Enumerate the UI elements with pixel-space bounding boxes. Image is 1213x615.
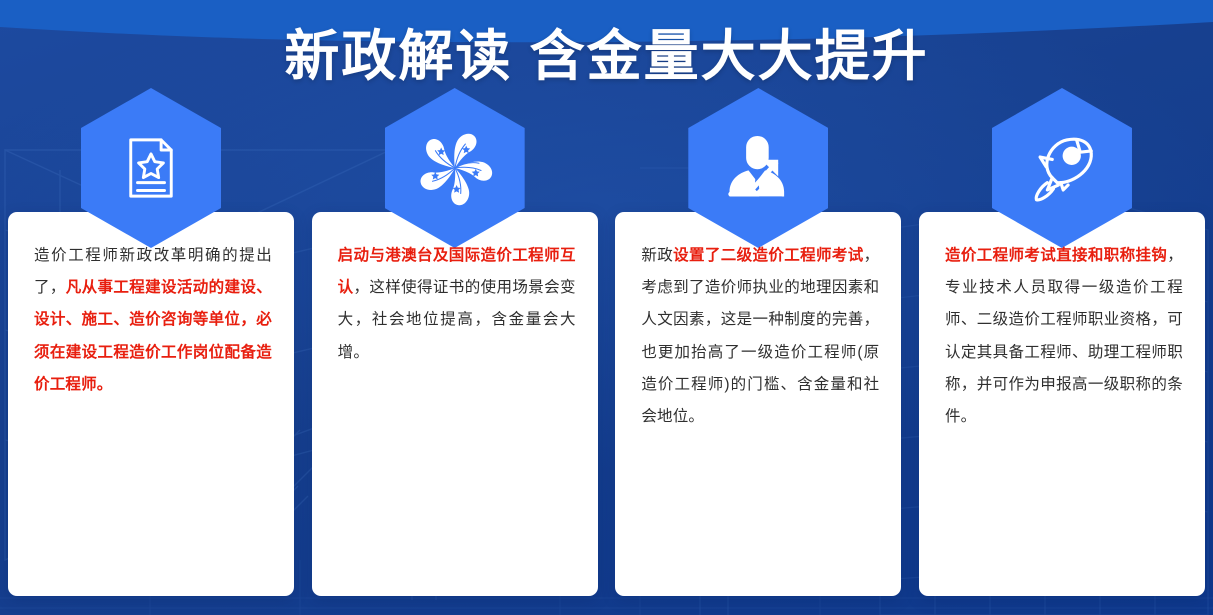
rocket-icon: [1023, 129, 1101, 207]
card-text: 造价工程师考试直接和职称挂钩，专业技术人员取得一级造价工程师、二级造价工程师职业…: [945, 240, 1183, 433]
card-mutual-recognition[interactable]: 启动与港澳台及国际造价工程师互认，这样使得证书的使用场景会变大，社会地位提高，含…: [312, 212, 598, 596]
body-text: ，专业技术人员取得一级造价工程师、二级造价工程师职业资格，可认定其具备工程师、助…: [945, 247, 1183, 425]
bauhinia-flower-icon: [415, 128, 495, 208]
highlighted-text: 凡从事工程建设活动的建设、设计、施工、造价咨询等单位，必须在建设工程造价工作岗位…: [34, 279, 272, 393]
body-text: ，这样使得证书的使用场景会变大，社会地位提高，含金量会大增。: [338, 279, 576, 360]
card-text: 启动与港澳台及国际造价工程师互认，这样使得证书的使用场景会变大，社会地位提高，含…: [338, 240, 576, 369]
highlighted-text: 造价工程师考试直接和职称挂钩: [945, 247, 1167, 264]
businessman-growth-chart-icon: [720, 130, 796, 206]
card-title-linkage[interactable]: 造价工程师考试直接和职称挂钩，专业技术人员取得一级造价工程师、二级造价工程师职业…: [919, 212, 1205, 596]
body-text: ，考虑到了造价师执业的地理因素和人文因素，这是一种制度的完善，也更加抬高了一级造…: [641, 247, 879, 425]
card-level-two-exam[interactable]: 新政设置了二级造价工程师考试，考虑到了造价师执业的地理因素和人文因素，这是一种制…: [615, 212, 901, 596]
page-title: 新政解读 含金量大大提升: [0, 26, 1213, 87]
card-policy-reform[interactable]: 造价工程师新政改革明确的提出了，凡从事工程建设活动的建设、设计、施工、造价咨询等…: [8, 212, 294, 596]
card-text: 新政设置了二级造价工程师考试，考虑到了造价师执业的地理因素和人文因素，这是一种制…: [641, 240, 879, 433]
document-star-icon: [115, 132, 187, 204]
promo-banner: 新政解读 含金量大大提升 造价工程师新政改革明确的提出了，凡从事工程建设活动的建…: [0, 0, 1213, 615]
highlighted-text: 设置了二级造价工程师考试: [673, 247, 864, 264]
cards-row: 造价工程师新政改革明确的提出了，凡从事工程建设活动的建设、设计、施工、造价咨询等…: [8, 212, 1205, 596]
card-text: 造价工程师新政改革明确的提出了，凡从事工程建设活动的建设、设计、施工、造价咨询等…: [34, 240, 272, 401]
body-text: 新政: [641, 247, 673, 264]
